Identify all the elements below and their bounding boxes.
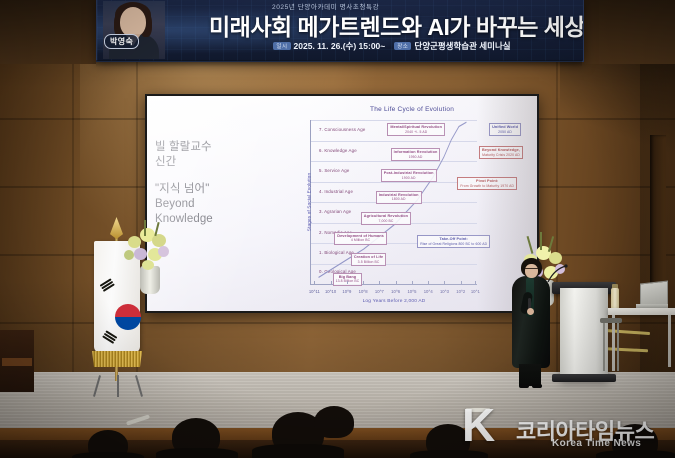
banner-title: 미래사회 메가트렌드와 AI가 바꾸는 세상 xyxy=(209,8,575,42)
chart-annotation-creation-of-life: Creation of Life 3.5 Billion BC xyxy=(351,253,386,266)
presenter-legs xyxy=(519,364,541,386)
annotation-sub: 1950 AD xyxy=(394,155,438,159)
banner-place-group: 장소 단양군평생학습관 세미나실 xyxy=(394,40,510,52)
flower-arrangement-left xyxy=(122,218,178,288)
chart-xtick: 10^3 xyxy=(440,289,449,294)
audience-shoulders xyxy=(252,444,344,458)
chart-xtick: 10^8 xyxy=(359,289,368,294)
place-chip-label: 장소 xyxy=(394,42,411,50)
audience-head xyxy=(314,406,354,438)
flower-stem xyxy=(144,220,146,236)
flower xyxy=(134,248,147,260)
side-table xyxy=(608,308,675,315)
banner-place-value: 단양군평생학습관 세미나실 xyxy=(414,40,510,52)
projection-screen-frame: 빌 할랄교수 신간 "지식 넘어" Beyond Knowledge The L… xyxy=(145,94,539,313)
chart-annotation-information-revolution: Information Revolution 1950 AD xyxy=(391,148,441,161)
wall-seam xyxy=(556,60,558,390)
chart-xtick: 10^7 xyxy=(375,289,384,294)
date-chip-label: 일시 xyxy=(273,42,290,50)
chart-xtick: 10^1 xyxy=(471,289,480,294)
glasses-icon xyxy=(525,268,538,272)
slide-note-line2: 신간 xyxy=(155,155,251,170)
annotation-sub: 1900 AD xyxy=(384,176,434,180)
banner-date-group: 일시 2025. 11. 26.(수) 15:00~ xyxy=(273,40,385,52)
speaker-portrait xyxy=(103,1,165,59)
evolution-chart: The Life Cycle of Evolution Stages of So… xyxy=(252,100,533,309)
chart-annotation-beyond-knowledge: Beyond Knowledge, Maturity Crisis 2020 A… xyxy=(479,146,523,159)
banner-meta: 일시 2025. 11. 26.(수) 15:00~ 장소 단양군평생학습관 세… xyxy=(209,40,575,52)
chart-annotation-pivot-point: Pivot Point: From Growth to Maturity 197… xyxy=(457,177,517,190)
annotation-sub: Rise of Great Religions 800 BC to 600 AD xyxy=(420,242,487,246)
annotation-sub: From Growth to Maturity 1970 AD xyxy=(460,184,514,188)
annotation-sub: Maturity Crisis 2020 AD xyxy=(482,153,520,157)
annotation-label: Creation of Life xyxy=(354,255,383,260)
chart-annotation-development-of-humans: Development of Humans 4 Million BC xyxy=(334,232,387,245)
slide-note-line4: Beyond xyxy=(155,197,251,212)
chart-annotation-post-industrial-revolution: Post-Industrial Revolution 1900 AD xyxy=(381,169,437,182)
table-leg xyxy=(668,315,671,367)
chart-xtick-mark xyxy=(428,281,429,284)
flag-stand xyxy=(96,375,140,397)
chart-xtick-mark xyxy=(379,281,380,284)
flower-vase xyxy=(140,266,160,294)
side-chair-seat xyxy=(2,358,32,366)
chart-xtick: 10^10 xyxy=(325,289,336,294)
chart-plot-area: Stages of Social Evolution 7. Consciousn… xyxy=(310,120,477,285)
chart-xtick-mark xyxy=(475,281,476,284)
side-panel-right xyxy=(579,0,675,64)
water-bottle xyxy=(611,288,619,310)
chart-xtick-mark xyxy=(314,281,315,284)
chart-annotation-mental-spiritual-revolution: Mental/Spiritual Revolution 2040 +/- 5 A… xyxy=(387,123,445,136)
chart-xtick: 10^9 xyxy=(342,289,351,294)
chart-x-axis-label: Log Years Before 2,000 AD xyxy=(311,299,477,304)
banner-date-value: 2025. 11. 26.(수) 15:00~ xyxy=(294,40,386,52)
trigram-gon xyxy=(102,330,118,345)
portrait-face xyxy=(120,7,146,37)
flower-stem xyxy=(540,232,542,250)
chart-annotation-agricultural-revolution: Agricultural Revolution 7,000 BC xyxy=(361,212,411,225)
chart-annotation-take-off-point: Take-Off Point: Rise of Great Religions … xyxy=(417,235,490,248)
flag-stand-leg xyxy=(117,375,119,397)
flower xyxy=(142,260,154,270)
chart-xtick: 10^5 xyxy=(407,289,416,294)
news-watermark: K 코리아타임뉴스 Korea Time News xyxy=(462,404,672,454)
annotation-sub: 4 Million BC xyxy=(337,238,384,242)
flower-stem xyxy=(548,236,554,252)
chart-xtick: 10^6 xyxy=(391,289,400,294)
audience-shoulders xyxy=(72,452,144,458)
audience-shoulders xyxy=(156,448,238,458)
annotation-sub: 2040 +/- 5 AD xyxy=(390,130,442,134)
flower xyxy=(128,236,141,248)
chart-xtick-mark xyxy=(347,281,348,284)
flower-stem xyxy=(527,236,533,254)
chart-annotation-industrial-revolution: Industrial Revolution 1800 AD xyxy=(376,191,422,204)
annotation-sub: 7,000 BC xyxy=(364,219,408,223)
annotation-sub: 1800 AD xyxy=(379,197,419,201)
wall-seam xyxy=(72,60,74,390)
chart-xtick-mark xyxy=(412,281,413,284)
slide-note-line1: 빌 할랄교수 xyxy=(155,140,251,155)
flag-fringe xyxy=(92,351,142,367)
flower xyxy=(124,250,134,260)
annotation-label: Agricultural Revolution xyxy=(364,214,408,219)
chart-annotation-unified-world: Unified World 2050 AD xyxy=(489,123,521,136)
chart-xtick: 10^11 xyxy=(309,289,320,294)
stage-chair xyxy=(600,318,622,374)
flower xyxy=(158,246,169,257)
chart-xtick-mark xyxy=(444,281,445,284)
presenter-hand xyxy=(527,308,534,315)
taeguk-symbol xyxy=(115,304,141,330)
chart-title: The Life Cycle of Evolution xyxy=(370,106,454,113)
slide-annotation: 빌 할랄교수 신간 "지식 넘어" Beyond Knowledge xyxy=(155,140,251,227)
slide-note-line3: "지식 넘어" xyxy=(155,182,251,197)
side-panel-left xyxy=(0,0,96,64)
trigram-geon xyxy=(100,278,116,293)
watermark-english-name: Korea Time News xyxy=(552,438,641,449)
annotation-sub: 3.5 Billion BC xyxy=(354,260,383,264)
presenter xyxy=(508,258,554,388)
annotation-label: Information Revolution xyxy=(394,150,438,155)
banner-shadow xyxy=(96,60,582,67)
annotation-sub: 2050 AD xyxy=(492,130,518,134)
event-banner: 박영숙 2025년 단양아카데미 명사초청특강 미래사회 메가트렌드와 AI가 … xyxy=(96,0,584,62)
chart-xtick-mark xyxy=(461,281,462,284)
presenter-shoe xyxy=(519,384,529,388)
chart-xtick: 10^4 xyxy=(424,289,433,294)
chart-xtick-mark xyxy=(363,281,364,284)
watermark-logo-mark: K xyxy=(462,402,495,448)
projection-screen: 빌 할랄교수 신간 "지식 넘어" Beyond Knowledge The L… xyxy=(147,96,537,311)
podium-base xyxy=(552,374,616,382)
speaker-name-badge: 박영숙 xyxy=(104,34,139,49)
chart-xtick: 10^2 xyxy=(456,289,465,294)
chart-xtick-mark xyxy=(396,281,397,284)
photo-scene: 박영숙 2025년 단양아카데미 명사초청특강 미래사회 메가트렌드와 AI가 … xyxy=(0,0,675,458)
presenter-shoe xyxy=(532,384,542,388)
chart-xtick-mark xyxy=(331,281,332,284)
